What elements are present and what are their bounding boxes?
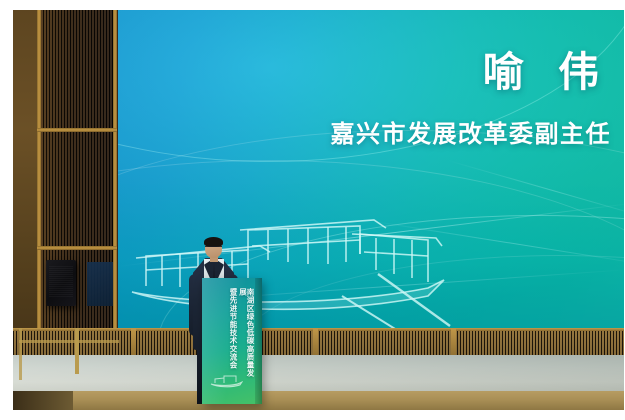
- wall-gold-trim-horizontal: [37, 246, 117, 250]
- stage-photograph: 喻 伟 嘉兴市发展改革委副主任: [13, 10, 625, 410]
- podium-event-text: 南湖区绿色低碳高质量发展 暨先进节能技术交流会: [212, 288, 254, 380]
- wall-gold-trim-horizontal: [37, 128, 117, 132]
- frame-left: [0, 0, 13, 420]
- stage-scaffold-rail: [19, 340, 119, 343]
- podium-event-line: 暨先进节能技术交流会: [230, 288, 238, 380]
- screen-speaker-name: 喻 伟: [483, 38, 611, 98]
- screen-speaker-title: 嘉兴市发展改革委副主任: [331, 114, 612, 149]
- stage-scaffold-post: [75, 328, 79, 374]
- rail-top-trim: [13, 328, 625, 331]
- podium-event-line: 南湖区绿色低碳高质量发展: [239, 288, 254, 380]
- nanhu-red-boat-icon: [128, 200, 458, 328]
- photo-frame: 喻 伟 嘉兴市发展改革委副主任: [0, 0, 625, 420]
- rail-post: [313, 328, 318, 358]
- wall-blue-panel: [87, 262, 113, 306]
- stage-scaffold-post: [19, 328, 22, 380]
- rail-post: [451, 328, 456, 358]
- frame-bottom: [0, 410, 625, 420]
- loudspeaker-icon: [46, 260, 76, 306]
- stage-floor: [13, 355, 625, 393]
- frame-top: [0, 0, 625, 10]
- glasses-icon: [205, 246, 222, 251]
- rail-post: [131, 328, 136, 358]
- stage-front-shadow: [13, 391, 73, 410]
- white-boat-icon: [209, 375, 243, 388]
- podium-side-face: [255, 278, 262, 404]
- stage-rail: [13, 328, 625, 358]
- podium: 南湖区绿色低碳高质量发展 暨先进节能技术交流会: [202, 278, 262, 404]
- rail-slats: [13, 328, 625, 358]
- stage-front-edge: [13, 391, 625, 410]
